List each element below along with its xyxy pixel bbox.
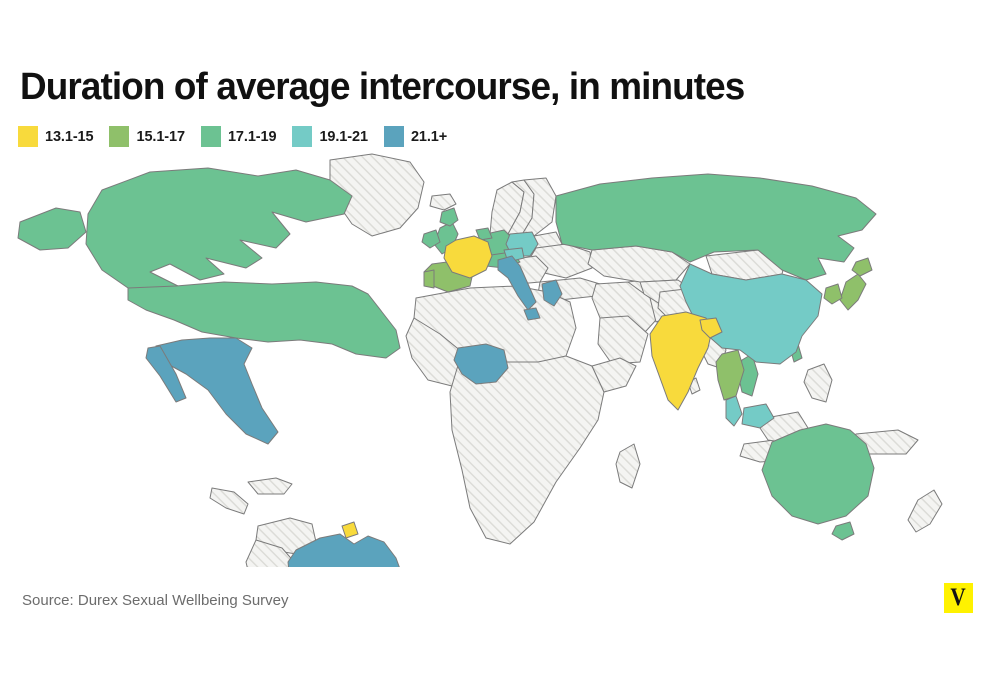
region-australia [762, 424, 874, 524]
legend-item: 13.1-15 [18, 126, 93, 147]
map-svg [0, 152, 1000, 567]
region-madagascar [616, 444, 640, 488]
region-philippines [804, 364, 832, 402]
region-malaysia-peninsula [726, 396, 742, 426]
vox-logo-letter: V [951, 585, 966, 610]
legend-swatch-15-1-17 [109, 126, 129, 147]
legend-item: 21.1+ [384, 126, 447, 147]
region-tasmania [832, 522, 854, 540]
legend-swatch-21-1-plus [384, 126, 404, 147]
legend-item: 19.1-21 [292, 126, 367, 147]
source-note: Source: Durex Sexual Wellbeing Survey [22, 592, 289, 609]
region-japan [840, 274, 866, 310]
legend-swatch-19-1-21 [292, 126, 312, 147]
legend-label: 13.1-15 [45, 129, 93, 145]
region-uk-scotland [440, 208, 458, 226]
region-south-korea [824, 284, 842, 304]
world-choropleth-map [0, 152, 1000, 567]
legend-swatch-17-1-19 [201, 126, 221, 147]
region-french-guiana [342, 522, 358, 538]
region-iceland [430, 194, 456, 210]
region-caribbean [248, 478, 292, 494]
page-title: Duration of average intercourse, in minu… [20, 66, 744, 109]
legend-label: 17.1-19 [228, 129, 276, 145]
region-alaska [18, 208, 86, 250]
region-canada [86, 168, 352, 298]
legend-label: 19.1-21 [319, 129, 367, 145]
legend-label: 15.1-17 [136, 129, 184, 145]
legend-item: 15.1-17 [109, 126, 184, 147]
region-portugal [424, 270, 434, 288]
region-central-america [210, 488, 248, 514]
legend-swatch-13-1-15 [18, 126, 38, 147]
vox-logo: V [944, 583, 973, 613]
duration-legend: 13.1-15 15.1-17 17.1-19 19.1-21 21.1+ [18, 126, 463, 147]
region-thailand [716, 350, 744, 400]
legend-label: 21.1+ [411, 129, 447, 145]
legend-item: 17.1-19 [201, 126, 276, 147]
infographic-root: Duration of average intercourse, in minu… [0, 0, 1000, 700]
region-new-zealand [908, 490, 942, 532]
region-japan-north [852, 258, 872, 276]
